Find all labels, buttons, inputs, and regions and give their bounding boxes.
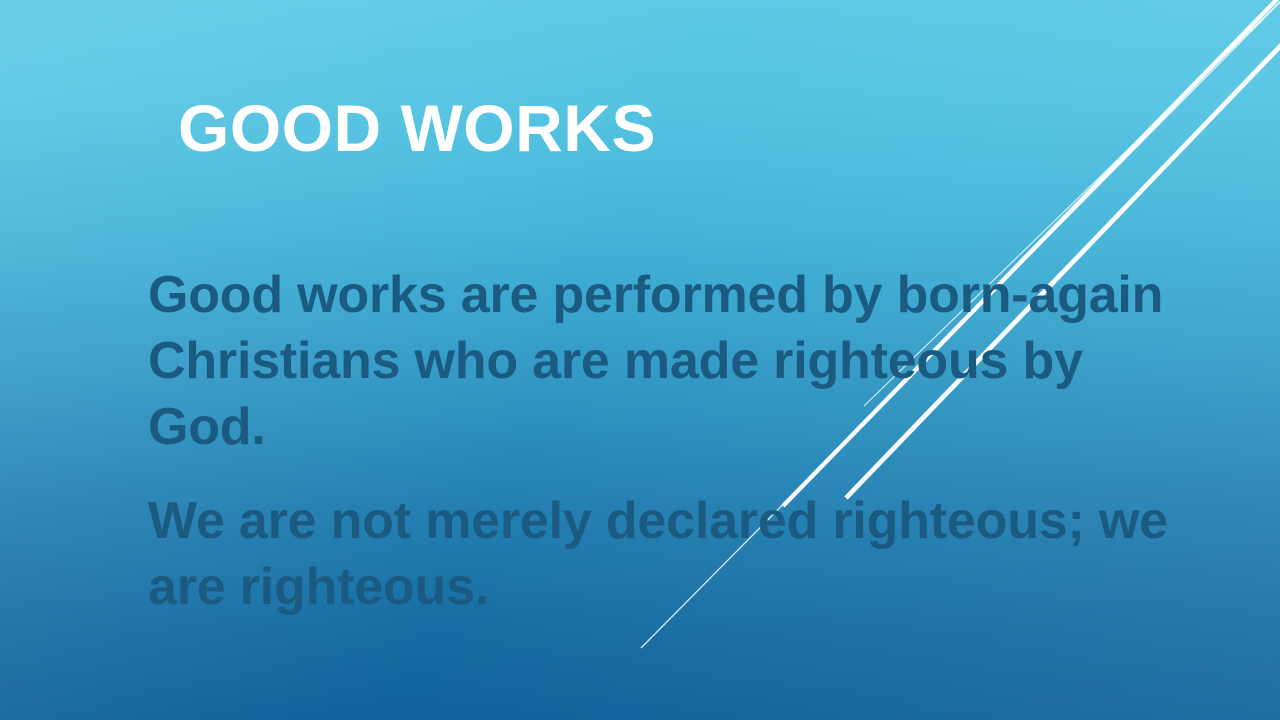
slide-canvas: GOOD WORKS Good works are performed by b…	[0, 0, 1280, 720]
body-paragraph-1: Good works are performed by born-again C…	[148, 262, 1178, 460]
slide-body: Good works are performed by born-again C…	[148, 262, 1178, 620]
slide-title: GOOD WORKS	[178, 95, 656, 161]
body-paragraph-2: We are not merely declared righteous; we…	[148, 488, 1178, 620]
